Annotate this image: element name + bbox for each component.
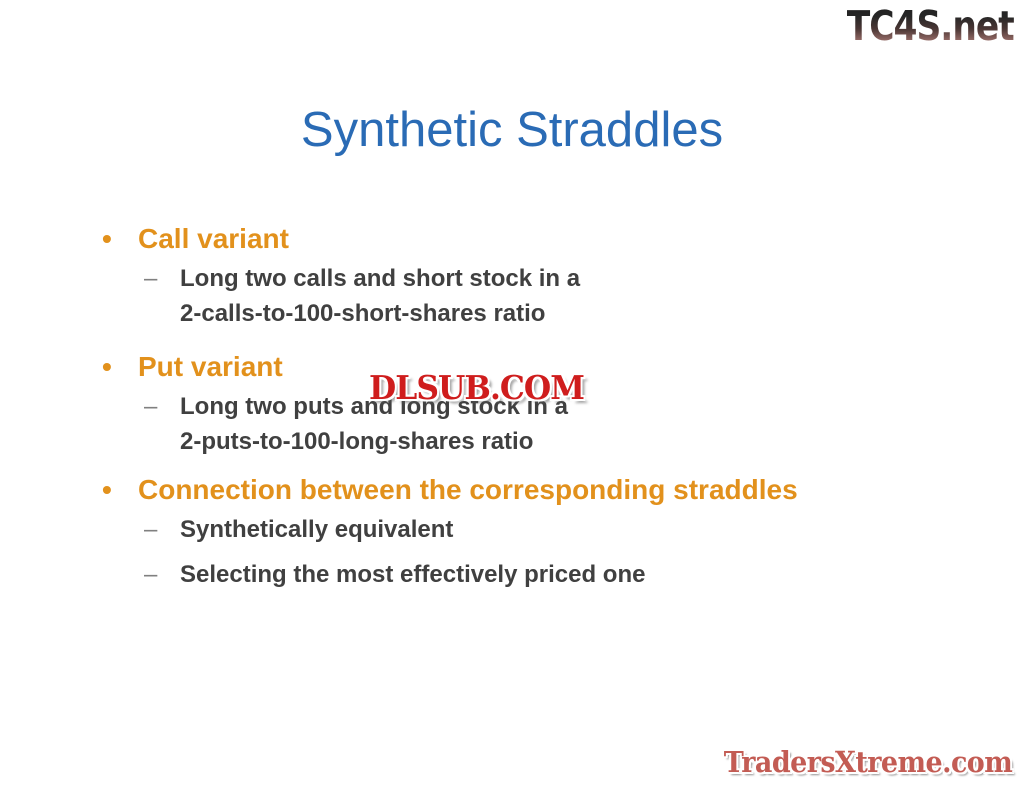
dash-icon: –	[144, 512, 157, 547]
bullet-label: Put variant	[138, 351, 283, 382]
group-spacer	[96, 331, 976, 347]
sub-bullet-item: – Long two calls and short stock in a	[96, 261, 976, 296]
dash-icon: –	[144, 389, 157, 424]
dash-icon: –	[144, 557, 157, 592]
sub-bullet-label: 2-puts-to-100-long-shares ratio	[180, 428, 533, 455]
sub-bullet-item: – Synthetically equivalent	[96, 512, 976, 547]
bullet-item-connection: • Connection between the corresponding s…	[96, 470, 976, 510]
group-spacer	[96, 459, 976, 470]
sub-bullet-label: Long two calls and short stock in a	[180, 265, 580, 292]
dash-icon: –	[144, 261, 157, 296]
tradersxtreme-watermark-logo: TradersXtreme.com	[723, 745, 1012, 779]
sub-bullet-label: Synthetically equivalent	[180, 516, 453, 543]
sub-bullet-item: – Selecting the most effectively priced …	[96, 557, 976, 592]
bullet-dot-icon: •	[102, 219, 112, 259]
bullet-label: Call variant	[138, 223, 289, 254]
dlsub-watermark-logo: DLSUB.COM	[369, 370, 584, 406]
bullet-dot-icon: •	[102, 470, 112, 510]
sub-bullet-label: Selecting the most effectively priced on…	[180, 561, 645, 588]
sub-bullet-item: 2-calls-to-100-short-shares ratio	[96, 296, 976, 331]
bullet-label: Connection between the corresponding str…	[138, 474, 798, 505]
presentation-slide: TC4S.net Synthetic Straddles • Call vari…	[0, 0, 1024, 791]
bullet-item-call-variant: • Call variant	[96, 219, 976, 259]
sub-item-spacer	[96, 547, 976, 557]
bullet-dot-icon: •	[102, 347, 112, 387]
slide-title: Synthetic Straddles	[0, 101, 1024, 159]
sub-bullet-item: 2-puts-to-100-long-shares ratio	[96, 424, 976, 459]
sub-bullet-label: 2-calls-to-100-short-shares ratio	[180, 300, 545, 327]
tc4s-watermark-logo: TC4S.net	[847, 2, 1014, 50]
